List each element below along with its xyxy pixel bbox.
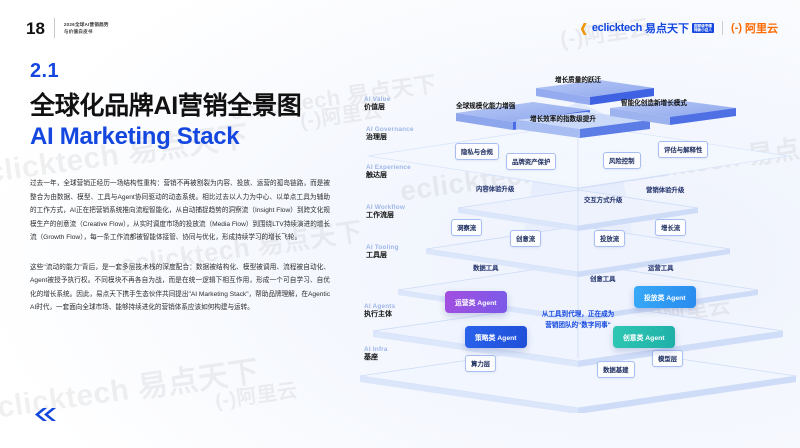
alicloud-mark-icon: (-): [731, 23, 742, 34]
infra-item-data: 数据基建: [597, 361, 635, 378]
layer-label-en: AI Tooling: [366, 244, 399, 251]
page-subtitle: AI Marketing Stack: [30, 123, 330, 152]
layer-label-cn: 价值层: [364, 104, 390, 113]
layer-label-tooling: AI Tooling 工具层: [366, 244, 399, 261]
alicloud-logo: (-) 阿里云: [731, 20, 778, 36]
layer-label-en: AI Infra: [364, 346, 388, 353]
center-note-line1: 从工具到代理，正在成为: [504, 310, 652, 321]
eclicktech-cn-name: 易点天下: [645, 20, 689, 36]
layer-label-cn: 工具层: [366, 252, 399, 261]
eclicktech-wordmark: eclicktech: [592, 22, 642, 34]
layer-label-cn: 执行主体: [364, 311, 395, 320]
tooling-item-operations: 运营工具: [648, 263, 674, 272]
center-note-line2: 营销团队的"数字同事": [504, 321, 652, 332]
content-column: 2.1 全球化品牌AI营销全景图 AI Marketing Stack 过去一年…: [30, 60, 330, 315]
logo-divider: [722, 21, 723, 35]
governance-item-risk-control: 风险控制: [603, 152, 641, 169]
value-item-efficiency: 增长效率的指数级提升: [530, 113, 596, 123]
eclicktech-mark-icon: ❰: [579, 22, 589, 34]
layer-label-agents: AI Agents 执行主体: [364, 303, 395, 320]
infra-item-model: 模型层: [652, 350, 683, 367]
agents-center-note: 从工具到代理，正在成为 营销团队的"数字同事": [504, 310, 652, 331]
workflow-item-insight: 洞察流: [451, 219, 482, 236]
layer-label-en: AI Agents: [364, 303, 395, 310]
infra-item-compute: 算力层: [465, 355, 496, 372]
governance-item-evaluation: 评估与解释性: [658, 141, 708, 158]
page-number: 18: [26, 20, 45, 37]
experience-item-content: 内容体验升级: [476, 184, 514, 193]
value-item-quality: 增长质量的跃迁: [555, 74, 601, 84]
layer-label-en: AI Experience: [366, 164, 411, 171]
agent-card-media: 投放类 Agent: [634, 286, 696, 308]
eclicktech-logo: ❰ eclicktech 易点天下 国家级专精 特新小巨人: [579, 20, 714, 36]
page-title: 全球化品牌AI营销全景图: [30, 92, 330, 121]
workflow-item-media: 投放流: [594, 230, 625, 247]
pyramid-plates: [358, 58, 798, 413]
section-number: 2.1: [30, 60, 330, 83]
value-item-new-growth-model: 智能化创造新增长模式: [621, 97, 687, 107]
tooling-item-data: 数据工具: [473, 263, 499, 272]
layer-label-en: AI Value: [364, 96, 390, 103]
body-paragraph-2: 这些"流动的能力"背后，是一套多层技术栈的深度配合：数据被结构化、模型被调用、流…: [30, 261, 330, 315]
layer-label-workflow: AI Workflow 工作流层: [366, 204, 405, 221]
agent-card-operations: 运营类 Agent: [445, 291, 507, 313]
body-paragraph-1: 过去一年，全球营销正经历一场结构性重构：营销不再被割裂为内容、投放、运营的孤岛链…: [30, 177, 330, 245]
document-title: 2026全球AI营销趋势 与价值白皮书: [64, 21, 109, 35]
governance-item-brand-asset: 品牌资产保护: [506, 153, 556, 170]
footer-chevron-icon: [33, 408, 57, 426]
layer-label-en: AI Workflow: [366, 204, 405, 211]
layer-label-cn: 触达层: [366, 172, 411, 181]
doc-title-line1: 2026全球AI营销趋势: [64, 21, 109, 28]
header-divider: [54, 18, 55, 38]
layer-label-experience: AI Experience 触达层: [366, 164, 411, 181]
specialized-badge: 国家级专精 特新小巨人: [692, 23, 714, 34]
layer-label-cn: 基座: [364, 354, 388, 363]
workflow-item-creative: 创意流: [510, 230, 541, 247]
layer-label-value: AI Value 价值层: [364, 96, 390, 113]
alicloud-cn-name: 阿里云: [745, 20, 778, 36]
governance-item-privacy: 隐私与合规: [455, 143, 499, 160]
badge-line2: 特新小巨人: [694, 28, 712, 32]
experience-item-interaction: 交互方式升级: [584, 195, 622, 204]
layer-label-en: AI Governance: [366, 126, 414, 133]
doc-title-line2: 与价值白皮书: [64, 28, 109, 35]
tooling-item-creative: 创意工具: [590, 274, 616, 283]
value-item-global-scale: 全球规模化能力增强: [456, 100, 515, 110]
workflow-item-growth: 增长流: [655, 219, 686, 236]
page-header-left: 18 2026全球AI营销趋势 与价值白皮书: [26, 18, 109, 38]
page-header-logos: ❰ eclicktech 易点天下 国家级专精 特新小巨人 (-) 阿里云: [579, 20, 778, 36]
ai-marketing-stack-diagram: AI Value 价值层 AI Governance 治理层 AI Experi…: [358, 58, 798, 413]
layer-label-cn: 工作流层: [366, 212, 405, 221]
layer-label-infra: AI Infra 基座: [364, 346, 388, 363]
layer-label-cn: 治理层: [366, 134, 414, 143]
experience-item-marketing: 营销体验升级: [646, 185, 684, 194]
layer-label-governance: AI Governance 治理层: [366, 126, 414, 143]
